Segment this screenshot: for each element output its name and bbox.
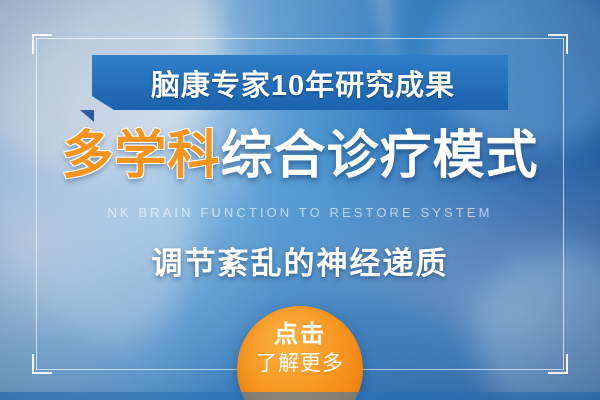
frame-corner-bottom-right — [548, 354, 568, 374]
cta-secondary-label: 了解更多 — [256, 350, 344, 378]
frame-corner-bottom-left — [32, 354, 52, 374]
ribbon-banner: 脑康专家10年研究成果 — [92, 55, 508, 110]
headline-rest: 综合诊疗模式 — [221, 127, 539, 185]
ribbon-label: 脑康专家10年研究成果 — [92, 55, 508, 110]
cta-primary-label: 点击 — [274, 320, 326, 350]
subheadline: 调节紊乱的神经递质 — [0, 238, 600, 283]
frame-corner-top-right — [548, 34, 568, 54]
headline: 多学科综合诊疗模式 — [0, 126, 600, 186]
headline-highlight: 多学科 — [61, 127, 220, 185]
english-subline: NK BRAIN FUNCTION TO RESTORE SYSTEM — [0, 205, 600, 220]
bottom-accent-bar — [0, 392, 600, 400]
promo-banner: 脑康专家10年研究成果 多学科综合诊疗模式 NK BRAIN FUNCTION … — [0, 0, 600, 400]
frame-corner-top-left — [32, 34, 52, 54]
